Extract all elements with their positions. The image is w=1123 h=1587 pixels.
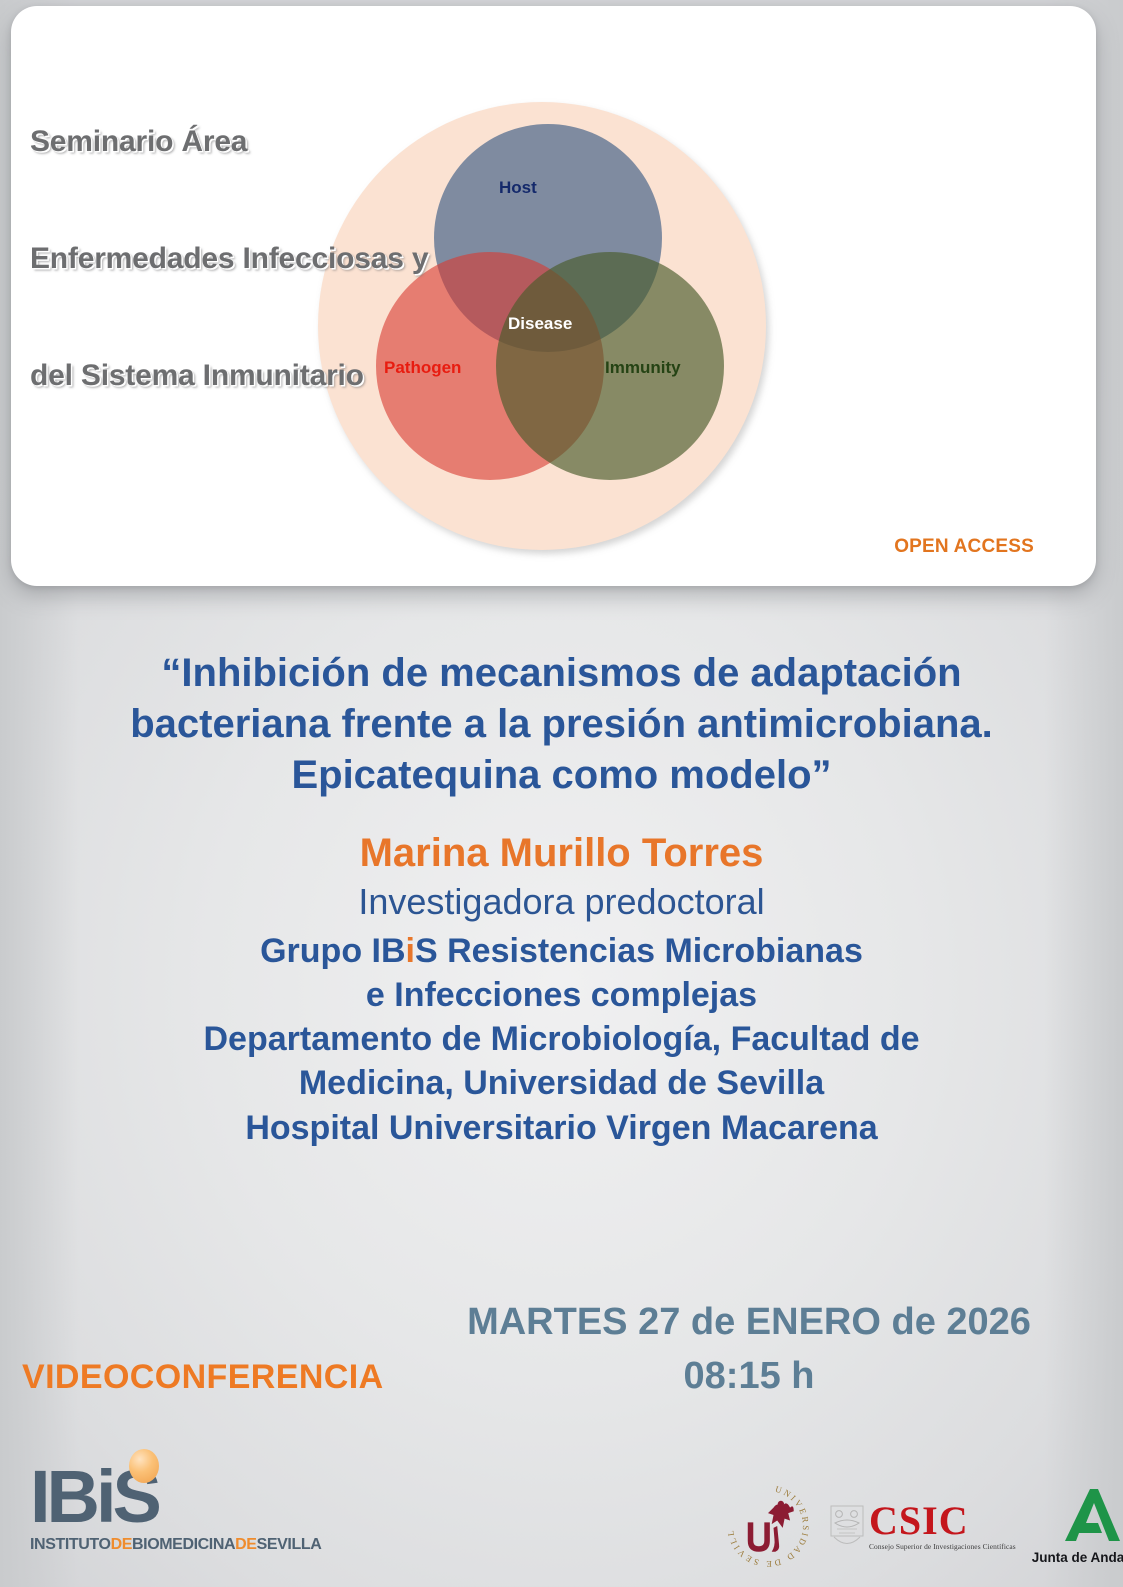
junta-a-icon [1064,1487,1122,1543]
ibis-i-accent: i [406,932,415,970]
talk-title-line-1: “Inhibición de mecanismos de adaptación [38,648,1085,699]
ibis-tagline-de-2: DE [235,1536,256,1553]
csic-tagline: Consejo Superior de Investigaciones Cien… [869,1542,1016,1551]
junta-de-andalucia-logo: Junta de Andalucía [1032,1487,1123,1565]
open-access-badge: OPEN ACCESS [894,536,1034,558]
junta-label: Junta de Andalucía [1032,1550,1123,1565]
ibis-tagline-instituto: INSTITUTO [30,1536,111,1553]
ibis-tagline-sevilla: SEVILLA [257,1536,322,1553]
affiliation-group-suffix: S Resistencias Microbianas [415,932,863,970]
ibis-wordmark: IBiS [30,1462,320,1532]
seminar-header-line-1: Seminario Área [30,122,428,161]
ibis-tagline-biomedicina: BIOMEDICINA [132,1536,235,1553]
affiliation-line-3: Departamento de Microbiología, Facultad … [70,1017,1053,1061]
affiliation-line-1: Grupo IBiS Resistencias Microbianas [70,929,1053,973]
affiliation-line-4: Medicina, Universidad de Sevilla [70,1061,1053,1105]
ibis-sphere-icon [129,1449,159,1483]
seminar-header: Seminario Área Enfermedades Infecciosas … [30,44,428,434]
ibis-logo: IBiS INSTITUTODEBIOMEDICINADESEVILLA [30,1462,320,1572]
main-content: “Inhibición de mecanismos de adaptación … [0,648,1123,1150]
speaker-name: Marina Murillo Torres [0,830,1123,876]
affiliation-line-2: e Infecciones complejas [70,973,1053,1017]
talk-title-line-3: Epicatequina como modelo” [38,750,1085,801]
event-date: MARTES 27 de ENERO de 2026 [404,1296,1094,1350]
event-time: 08:15 h [404,1350,1094,1404]
seminar-header-line-3: del Sistema Inmunitario [30,356,428,395]
event-modality: VIDEOCONFERENCIA [22,1358,384,1397]
affiliation-line-5: Hospital Universitario Virgen Macarena [70,1106,1053,1150]
universidad-de-sevilla-logo: UNIVERSIDAD DE SEVILLA [722,1480,814,1572]
csic-coat-of-arms-icon [830,1505,864,1551]
csic-logo: CSIC Consejo Superior de Investigaciones… [830,1502,1016,1551]
speaker-role: Investigadora predoctoral [0,880,1123,923]
ibis-tagline-de-1: DE [111,1536,132,1553]
seminar-header-line-2: Enfermedades Infecciosas y [30,239,428,278]
affiliation-group-prefix: Grupo IB [260,932,405,970]
csic-wordmark: CSIC [869,1502,1016,1540]
venn-label-immunity: Immunity [605,358,681,378]
talk-title: “Inhibición de mecanismos de adaptación … [0,648,1123,802]
speaker-affiliation: Grupo IBiS Resistencias Microbianas e In… [0,929,1123,1150]
talk-title-line-2: bacteriana frente a la presión antimicro… [38,699,1085,750]
csic-text-block: CSIC Consejo Superior de Investigaciones… [869,1502,1016,1551]
venn-label-disease: Disease [508,314,572,334]
event-datetime: MARTES 27 de ENERO de 2026 08:15 h [404,1296,1094,1404]
venn-label-host: Host [499,178,537,198]
institutional-logos: UNIVERSIDAD DE SEVILLA CSIC Consejo Supe… [722,1474,1112,1578]
ibis-tagline: INSTITUTODEBIOMEDICINADESEVILLA [30,1536,320,1554]
